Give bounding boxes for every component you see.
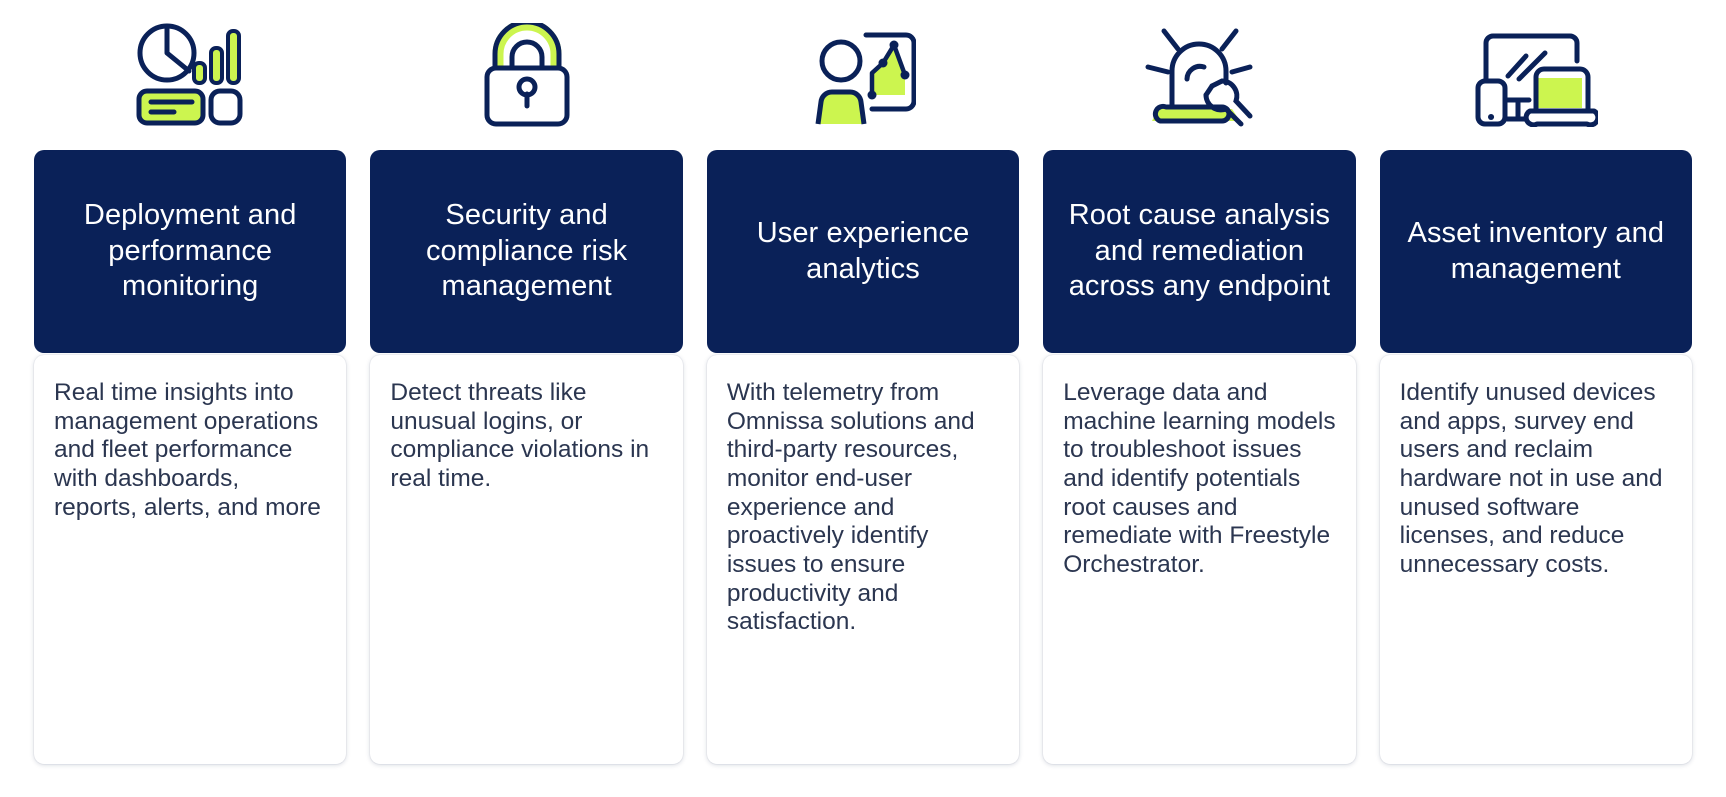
column-2-body: Detect threats like unusual logins, or c… [358,355,694,764]
feature-description-5: Identify unused devices and apps, survey… [1400,379,1672,580]
icon-cell-5 [1368,0,1704,150]
feature-title-3: User experience analytics [707,150,1019,353]
descriptions-row: Real time insights into management opera… [22,355,1704,797]
column-3-body: With telemetry from Omnissa solutions an… [695,355,1031,764]
feature-description-card-3: With telemetry from Omnissa solutions an… [707,355,1019,764]
feature-title-4: Root cause analysis and remediation acro… [1043,150,1355,353]
headers-row: Deployment and performance monitoring Se… [22,150,1704,355]
feature-description-2: Detect threats like unusual logins, or c… [390,379,662,494]
icon-cell-4 [1031,0,1367,150]
icon-cell-3 [695,0,1031,150]
feature-title-5: Asset inventory and management [1380,150,1692,353]
alert-siren-wrench-icon [1144,23,1254,127]
feature-description-card-4: Leverage data and machine learning model… [1043,355,1355,764]
icon-row [22,0,1704,150]
column-5-body: Identify unused devices and apps, survey… [1368,355,1704,764]
icon-cell-2 [358,0,694,150]
column-1-body: Real time insights into management opera… [22,355,358,764]
feature-title-2: Security and compliance risk management [370,150,682,353]
feature-title-1: Deployment and performance monitoring [34,150,346,353]
feature-card-grid: Deployment and performance monitoring Se… [0,0,1726,797]
devices-monitor-laptop-phone-icon [1474,23,1598,127]
analytics-dashboard-icon [136,23,244,127]
column-4-header: Root cause analysis and remediation acro… [1031,150,1367,353]
icon-cell-1 [22,0,358,150]
column-3-header: User experience analytics [695,150,1031,353]
feature-description-4: Leverage data and machine learning model… [1063,379,1335,580]
column-4-body: Leverage data and machine learning model… [1031,355,1367,764]
feature-description-card-5: Identify unused devices and apps, survey… [1380,355,1692,764]
feature-description-3: With telemetry from Omnissa solutions an… [727,379,999,637]
column-1-header: Deployment and performance monitoring [22,150,358,353]
feature-description-card-1: Real time insights into management opera… [34,355,346,764]
feature-description-1: Real time insights into management opera… [54,379,326,522]
padlock-security-icon [484,23,570,127]
user-experience-chart-icon [810,23,916,127]
column-2-header: Security and compliance risk management [358,150,694,353]
feature-description-card-2: Detect threats like unusual logins, or c… [370,355,682,764]
column-5-header: Asset inventory and management [1368,150,1704,353]
